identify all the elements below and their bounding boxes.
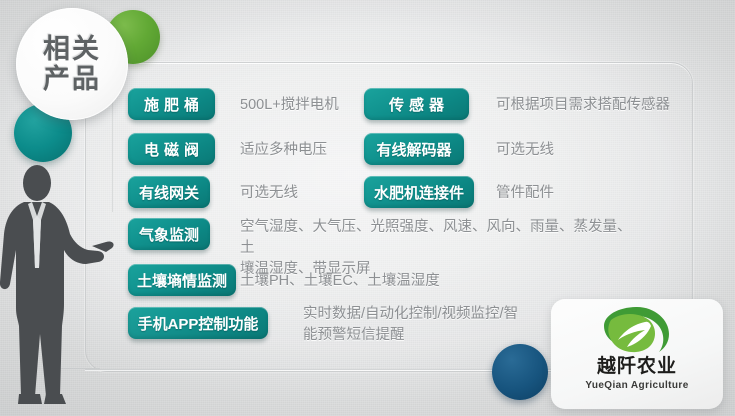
product-description: 500L+搅拌电机 — [240, 95, 339, 116]
section-title-line1: 相关 — [43, 34, 101, 64]
product-row: 电磁阀 — [128, 133, 215, 165]
product-row: 施肥桶 — [128, 88, 215, 120]
product-label-pill[interactable]: 电磁阀 — [128, 133, 215, 165]
company-name-cn: 越阡农业 — [597, 357, 677, 376]
product-description: 实时数据/自动化控制/视频监控/智 能预警短信提醒 — [303, 304, 553, 346]
product-row: 有线网关 — [128, 176, 210, 208]
product-description: 土壤PH、土壤EC、土壤温湿度 — [240, 271, 440, 292]
product-row: 传感器 — [364, 88, 469, 120]
company-logo-card: 越阡农业 YueQian Agriculture — [551, 299, 723, 409]
product-row: 手机APP控制功能 — [128, 307, 268, 339]
product-description: 可选无线 — [496, 140, 554, 161]
product-label-pill[interactable]: 水肥机连接件 — [364, 176, 474, 208]
product-description: 管件配件 — [496, 183, 554, 204]
product-row: 气象监测 — [128, 218, 210, 250]
product-row: 有线解码器 — [364, 133, 464, 165]
slide-canvas: 相关 产品 施肥桶 500L+搅拌电机 电磁阀 适应多种电压 有线网关 可选无线… — [0, 0, 735, 416]
product-label-pill[interactable]: 手机APP控制功能 — [128, 307, 268, 339]
product-label-pill[interactable]: 有线网关 — [128, 176, 210, 208]
section-title-badge: 相关 产品 — [16, 8, 128, 120]
product-description: 适应多种电压 — [240, 140, 327, 161]
product-label-pill[interactable]: 传感器 — [364, 88, 469, 120]
product-row: 土壤墒情监测 — [128, 264, 236, 296]
product-row: 水肥机连接件 — [364, 176, 474, 208]
product-label-pill[interactable]: 施肥桶 — [128, 88, 215, 120]
product-label-pill[interactable]: 土壤墒情监测 — [128, 264, 236, 296]
leaf-logo-icon — [591, 304, 683, 356]
product-description: 可根据项目需求搭配传感器 — [496, 95, 670, 116]
businessman-silhouette-icon — [0, 158, 126, 408]
company-name-en: YueQian Agriculture — [585, 380, 688, 391]
product-label-pill[interactable]: 气象监测 — [128, 218, 210, 250]
blue-circle-decoration-bottom — [492, 344, 548, 400]
product-description: 可选无线 — [240, 183, 298, 204]
section-title-line2: 产品 — [43, 64, 101, 94]
product-label-pill[interactable]: 有线解码器 — [364, 133, 464, 165]
